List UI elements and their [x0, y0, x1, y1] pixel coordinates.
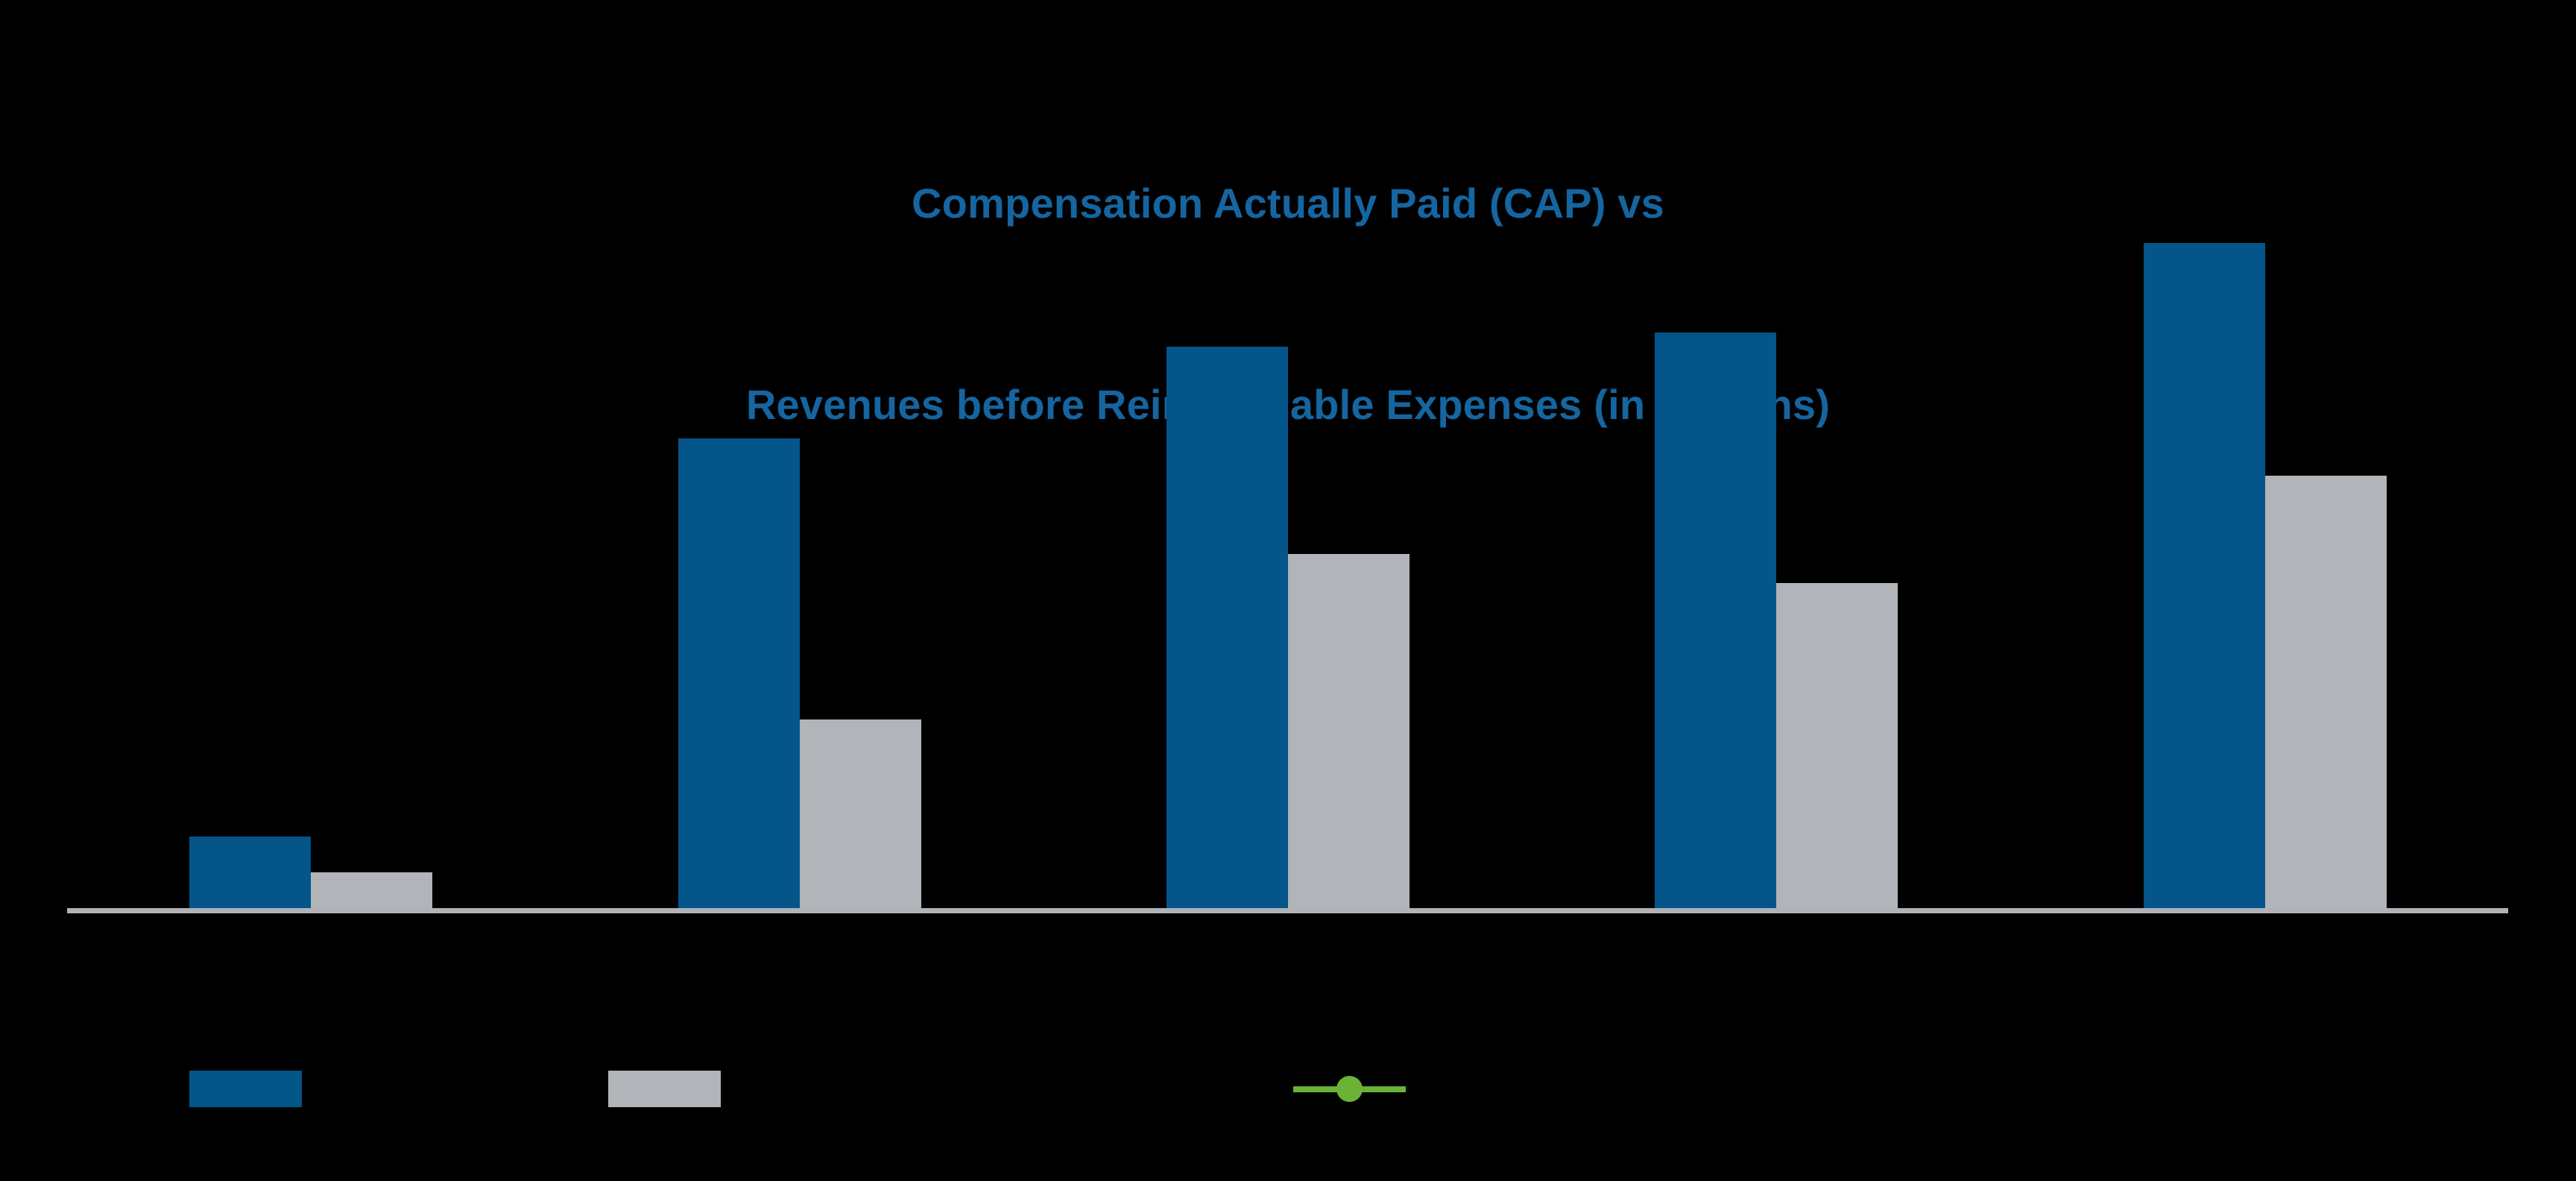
legend-swatch-blue-icon [189, 1071, 302, 1107]
chart-legend [0, 1059, 2576, 1141]
legend-item-revenues[interactable] [608, 1059, 740, 1118]
plot-area [0, 0, 2576, 1181]
bar-group-3-cap [1167, 347, 1288, 910]
legend-line-circle-icon [1293, 1071, 1406, 1107]
bar-group-1-cap [189, 837, 311, 910]
bar-group-1-revenues [311, 872, 432, 910]
bar-group-2-cap [678, 438, 800, 910]
bar-group-3-revenues [1288, 554, 1409, 910]
legend-item-cap[interactable] [189, 1059, 321, 1118]
bars-layer [0, 0, 2576, 910]
legend-circle-marker-icon [1336, 1076, 1363, 1102]
bar-group-5-revenues [2265, 476, 2387, 910]
legend-swatch-gray-icon [608, 1071, 721, 1107]
bar-group-4-revenues [1776, 583, 1898, 910]
legend-item-line-series[interactable] [1293, 1059, 1425, 1118]
bar-group-5-cap [2144, 243, 2265, 910]
x-axis-baseline [67, 908, 2508, 913]
bar-group-2-revenues [800, 719, 921, 910]
bar-group-4-cap [1655, 333, 1776, 910]
chart-container: Compensation Actually Paid (CAP) vs Reve… [0, 0, 2576, 1181]
